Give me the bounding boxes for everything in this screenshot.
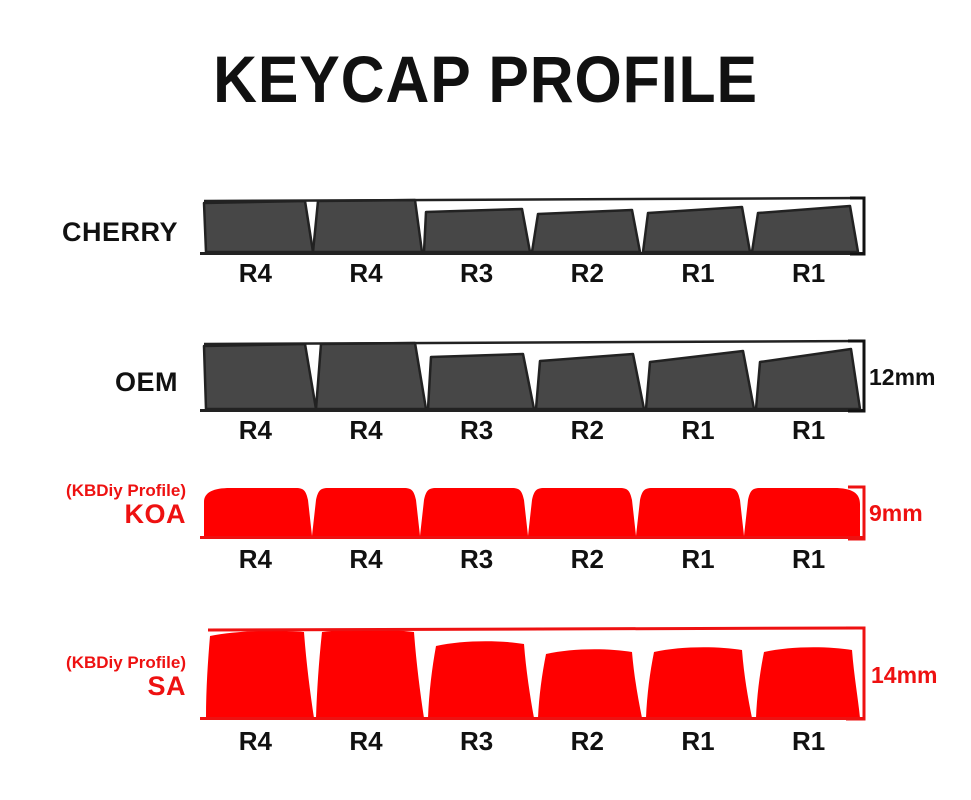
row-key-label: R3 xyxy=(421,415,532,446)
row-label-sa: (KBDiy Profile) SA xyxy=(0,654,186,700)
row-key-label: R4 xyxy=(311,415,422,446)
row-key-label: R4 xyxy=(311,726,422,757)
row-key-label: R4 xyxy=(200,726,311,757)
row-label-oem-name: OEM xyxy=(0,368,178,396)
row-key-label: R4 xyxy=(200,544,311,575)
row-key-label: R4 xyxy=(200,258,311,289)
row-key-label: R1 xyxy=(643,415,754,446)
row-key-label: R2 xyxy=(532,726,643,757)
row-key-label: R4 xyxy=(311,258,422,289)
cherry-row-keys: R4 R4 R3 R2 R1 R1 xyxy=(200,258,864,289)
row-key-label: R2 xyxy=(532,258,643,289)
koa-height-label: 9mm xyxy=(869,500,923,527)
row-key-label: R1 xyxy=(643,726,754,757)
row-key-label: R4 xyxy=(200,415,311,446)
row-key-label: R1 xyxy=(753,544,864,575)
row-key-label: R4 xyxy=(311,544,422,575)
row-key-label: R3 xyxy=(421,726,532,757)
row-key-label: R1 xyxy=(753,726,864,757)
row-label-cherry-name: CHERRY xyxy=(0,218,178,246)
sa-row-keys: R4 R4 R3 R2 R1 R1 xyxy=(200,726,864,757)
oem-height-label: 12mm xyxy=(869,364,935,391)
row-key-label: R1 xyxy=(753,258,864,289)
row-key-label: R1 xyxy=(753,415,864,446)
cherry-profile-shape xyxy=(200,190,870,258)
koa-profile-shape xyxy=(200,478,870,548)
koa-row-keys: R4 R4 R3 R2 R1 R1 xyxy=(200,544,864,575)
row-key-label: R2 xyxy=(532,415,643,446)
row-key-label: R1 xyxy=(643,258,754,289)
oem-row-keys: R4 R4 R3 R2 R1 R1 xyxy=(200,415,864,446)
row-label-sa-name: SA xyxy=(0,672,186,700)
sa-profile-shape xyxy=(200,618,870,730)
row-label-koa-name: KOA xyxy=(0,500,186,528)
row-label-koa-sublabel: (KBDiy Profile) xyxy=(0,482,186,500)
row-key-label: R3 xyxy=(421,544,532,575)
row-key-label: R3 xyxy=(421,258,532,289)
row-label-sa-sublabel: (KBDiy Profile) xyxy=(0,654,186,672)
row-label-koa: (KBDiy Profile) KOA xyxy=(0,482,186,528)
row-label-oem: OEM xyxy=(0,368,178,396)
row-label-cherry: CHERRY xyxy=(0,218,178,246)
keycap-profile-diagram: KEYCAP PROFILE CHERRY R4 xyxy=(0,0,971,800)
row-key-label: R2 xyxy=(532,544,643,575)
page-title: KEYCAP PROFILE xyxy=(39,46,932,112)
row-key-label: R1 xyxy=(643,544,754,575)
sa-height-label: 14mm xyxy=(871,662,937,689)
oem-profile-shape xyxy=(200,336,870,416)
